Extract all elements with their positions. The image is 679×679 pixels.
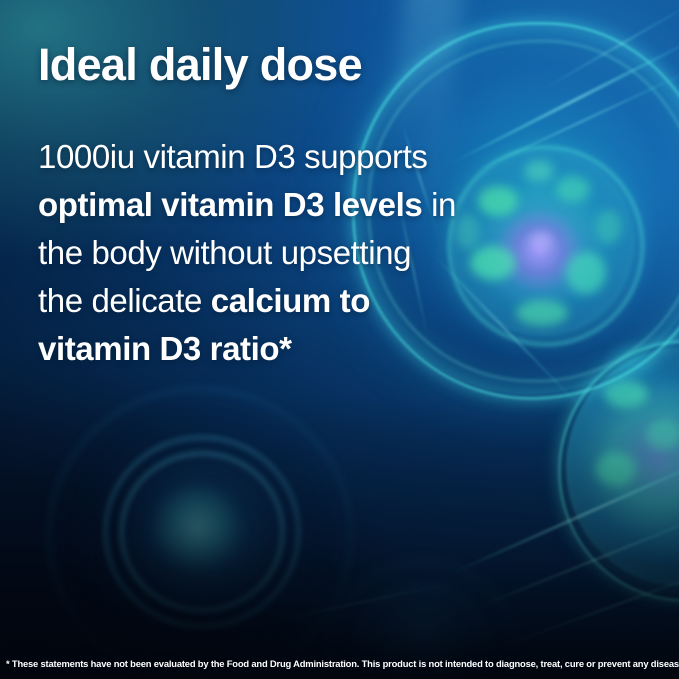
background-cell-nucleus [150, 482, 248, 576]
marketing-slide: Ideal daily dose 1000iu vitamin D3 suppo… [0, 0, 679, 679]
body-copy-line: 1000iu vitamin D3 supports [38, 133, 468, 181]
body-copy-line: the delicate calcium to [38, 277, 468, 325]
page-title: Ideal daily dose [38, 39, 362, 91]
body-copy-line: optimal vitamin D3 levels in [38, 181, 468, 229]
secondary-cell-blob [646, 420, 679, 450]
nucleus-highlight [530, 232, 552, 250]
secondary-cell-blob [604, 380, 648, 408]
nucleus-blob [566, 252, 606, 294]
body-copy: 1000iu vitamin D3 supportsoptimal vitami… [38, 133, 468, 373]
nucleus-blob [478, 186, 518, 216]
body-copy-emphasis: calcium to [211, 282, 370, 319]
body-copy-line: the body without upsetting [38, 229, 468, 277]
body-copy-text: 1000iu vitamin D3 supports [38, 138, 427, 175]
nucleus-blob [596, 210, 622, 244]
nucleus-blob [516, 300, 568, 326]
body-copy-text: the delicate [38, 282, 211, 319]
nucleus-blob [556, 176, 590, 202]
body-copy-emphasis: vitamin D3 ratio* [38, 330, 292, 367]
body-copy-emphasis: optimal vitamin D3 levels [38, 186, 422, 223]
nucleus-blob [524, 160, 554, 182]
nucleus-blob [470, 246, 516, 280]
secondary-cell-blob [596, 452, 636, 486]
body-copy-text: the body without upsetting [38, 234, 411, 271]
legal-disclaimer: * These statements have not been evaluat… [6, 658, 678, 669]
body-copy-line: vitamin D3 ratio* [38, 325, 468, 373]
body-copy-text: in [422, 186, 456, 223]
